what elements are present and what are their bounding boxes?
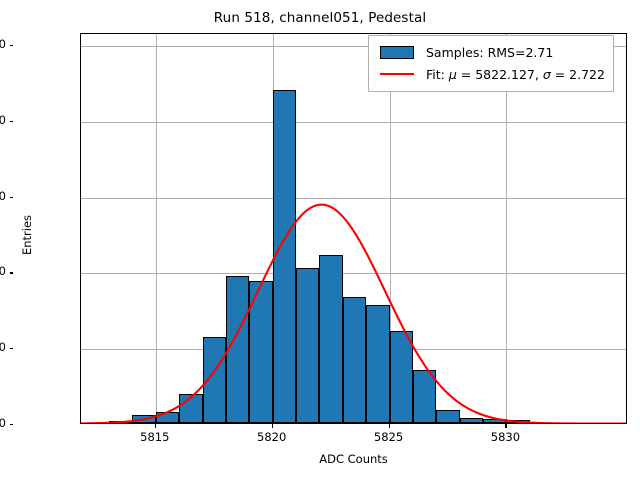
legend-entry-fit: Fit: μ = 5822.127, σ = 2.722 [377, 63, 605, 85]
gaussian-fit-curve [81, 34, 626, 424]
x-tick-label: 5825 [374, 430, 403, 444]
x-tick-mark [155, 424, 156, 428]
legend-box: Samples: RMS=2.71 Fit: μ = 5822.127, σ =… [368, 35, 614, 92]
x-tick-label: 5820 [257, 430, 286, 444]
mu-symbol: μ [449, 67, 457, 82]
y-axis-label: Entries [20, 175, 34, 295]
y-tick-label: 0 [0, 416, 6, 430]
legend-entry-samples: Samples: RMS=2.71 [377, 41, 605, 63]
y-tick-mark [10, 45, 14, 46]
legend-label-samples: Samples: RMS=2.71 [426, 45, 553, 60]
y-tick-mark [10, 272, 14, 273]
legend-label-fit: Fit: μ = 5822.127, σ = 2.722 [426, 67, 605, 82]
sigma-value: = 2.722 [551, 67, 605, 82]
y-tick-mark [10, 121, 14, 122]
x-tick-mark [389, 424, 390, 428]
x-tick-label: 5830 [491, 430, 520, 444]
y-tick-label: 2500 [0, 37, 6, 51]
y-tick-label: 2000 [0, 113, 6, 127]
x-tick-mark [505, 424, 506, 428]
y-tick-mark [10, 424, 14, 425]
y-tick-label: 1000 [0, 264, 6, 278]
legend-swatch-icon [377, 45, 417, 59]
x-tick-label: 5815 [140, 430, 169, 444]
mu-value: = 5822.127, [457, 67, 543, 82]
fit-prefix: Fit: [426, 67, 449, 82]
chart-title: Run 518, channel051, Pedestal [0, 10, 640, 26]
legend-line-icon [377, 67, 417, 81]
y-tick-mark [10, 348, 14, 349]
figure-canvas: Run 518, channel051, Pedestal 0500100015… [0, 0, 640, 480]
x-axis-label: ADC Counts [80, 452, 627, 466]
y-tick-label: 500 [0, 340, 6, 354]
y-tick-mark [10, 197, 14, 198]
sigma-symbol: σ [543, 67, 551, 82]
x-tick-mark [272, 424, 273, 428]
y-tick-label: 1500 [0, 189, 6, 203]
